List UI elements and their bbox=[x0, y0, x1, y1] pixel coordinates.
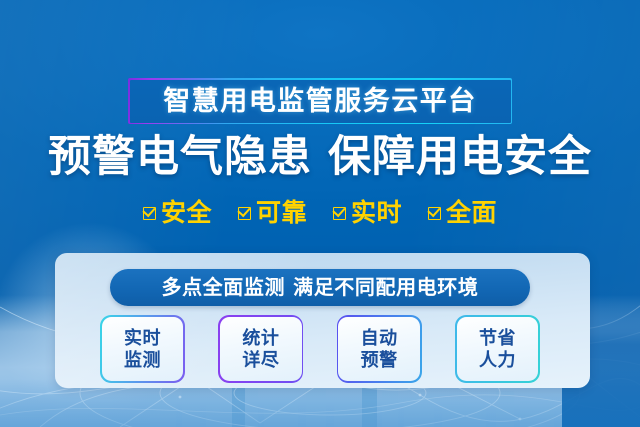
headline: 预警电气隐患保障用电安全 bbox=[0, 136, 640, 179]
checkbox-checked-icon bbox=[333, 207, 346, 220]
feature-check-row: 安全 可靠 实时 全面 bbox=[0, 201, 640, 226]
benefit-card-detailed-statistics[interactable]: 统计 详尽 bbox=[218, 315, 303, 383]
benefit-card-realtime-monitoring[interactable]: 实时 监测 bbox=[100, 315, 185, 383]
feature-check-item-1: 安全 bbox=[143, 201, 212, 226]
checkbox-checked-icon bbox=[428, 207, 441, 220]
benefit-card-inner: 统计 详尽 bbox=[220, 317, 302, 382]
checkbox-checked-icon bbox=[143, 207, 156, 220]
platform-title-text: 智慧用电监管服务云平台 bbox=[163, 88, 477, 115]
benefit-card-line-1: 节省 bbox=[479, 328, 516, 348]
feature-check-item-3: 实时 bbox=[333, 201, 402, 226]
benefit-card-line-2: 预警 bbox=[361, 350, 398, 370]
headline-part-2: 保障用电安全 bbox=[328, 133, 592, 181]
promo-poster: 智慧用电监管服务云平台 预警电气隐患保障用电安全 安全 可靠 实时 bbox=[0, 0, 640, 427]
subtitle-part-2: 满足不同配用电环境 bbox=[293, 277, 478, 299]
platform-title-box-inner: 智慧用电监管服务云平台 bbox=[130, 80, 511, 123]
benefit-card-line-1: 实时 bbox=[124, 328, 161, 348]
benefit-card-line-1: 自动 bbox=[361, 328, 398, 348]
feature-check-label-1: 安全 bbox=[161, 201, 212, 226]
benefit-card-line-2: 详尽 bbox=[242, 350, 279, 370]
benefit-card-line-2: 人力 bbox=[479, 350, 516, 370]
feature-check-item-2: 可靠 bbox=[238, 201, 307, 226]
subtitle-pill: 多点全面监测满足不同配用电环境 bbox=[110, 269, 530, 306]
benefit-card-inner: 自动 预警 bbox=[338, 317, 420, 382]
checkbox-checked-icon bbox=[238, 207, 251, 220]
benefit-card-inner: 实时 监测 bbox=[102, 317, 184, 382]
feature-check-label-4: 全面 bbox=[446, 201, 497, 226]
subtitle-pill-text: 多点全面监测满足不同配用电环境 bbox=[161, 278, 478, 298]
benefit-card-line-1: 统计 bbox=[242, 328, 279, 348]
benefit-card-automatic-alarm[interactable]: 自动 预警 bbox=[337, 315, 422, 383]
feature-check-label-3: 实时 bbox=[351, 201, 402, 226]
platform-title-box: 智慧用电监管服务云平台 bbox=[128, 78, 512, 124]
headline-part-1: 预警电气隐患 bbox=[48, 133, 312, 181]
benefit-card-row: 实时 监测 统计 详尽 自动 预警 节省 人力 bbox=[100, 315, 540, 383]
benefit-card-inner: 节省 人力 bbox=[457, 317, 539, 382]
feature-check-item-4: 全面 bbox=[428, 201, 497, 226]
benefit-card-save-manpower[interactable]: 节省 人力 bbox=[455, 315, 540, 383]
feature-check-label-2: 可靠 bbox=[256, 201, 307, 226]
subtitle-part-1: 多点全面监测 bbox=[161, 277, 285, 299]
benefit-card-line-2: 监测 bbox=[124, 350, 161, 370]
